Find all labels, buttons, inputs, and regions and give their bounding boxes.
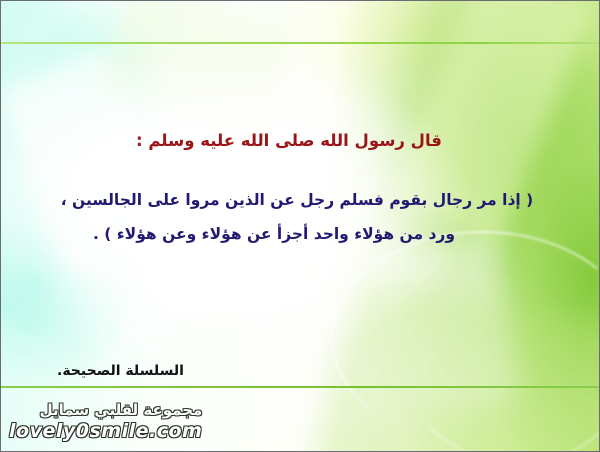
background-base-gradient xyxy=(1,1,599,451)
hadith-source-reference: السلسلة الصحيحة. xyxy=(57,363,184,379)
watermark-website-url: lovely0smile.com xyxy=(9,420,202,442)
watermark-arabic-text: مجموعة لقلبي سمايل xyxy=(9,401,202,419)
background-facet-shape-2 xyxy=(0,45,186,277)
background-cyan-blob-upper-left xyxy=(1,1,599,451)
background-facet-shape-6 xyxy=(387,0,596,244)
watermark: مجموعة لقلبي سمايل lovely0smile.com xyxy=(9,401,202,442)
background-arc-2 xyxy=(391,201,600,452)
background-yellow-bloom xyxy=(1,1,599,451)
hadith-intro-text: قال رسول الله صلى الله عليه وسلم : xyxy=(1,131,577,150)
hadith-body-line-2: ورد من هؤلاء واحد أجزأ عن هؤلاء وعن هؤلا… xyxy=(31,217,563,251)
background-green-leaf-right xyxy=(1,1,599,451)
background-facet-shape-5 xyxy=(313,272,600,452)
background-facet-shape-3 xyxy=(98,0,294,142)
hadith-body: ( إذا مر رجال بقوم فسلم رجل عن الذين مرو… xyxy=(31,183,563,251)
background-facet-shape-1 xyxy=(0,0,141,191)
background-content-haze xyxy=(1,1,599,451)
hadith-body-line-1: ( إذا مر رجال بقوم فسلم رجل عن الذين مرو… xyxy=(31,183,563,217)
divider-line-bottom xyxy=(1,386,599,388)
background-green-leaf-right-lower xyxy=(1,1,599,451)
islamic-hadith-card: قال رسول الله صلى الله عليه وسلم : ( إذا… xyxy=(0,0,600,452)
background-facet-shape-4 xyxy=(239,232,522,441)
divider-line-top xyxy=(1,42,599,44)
background-cyan-blob-left xyxy=(1,1,599,451)
background-arc-1 xyxy=(331,231,600,445)
